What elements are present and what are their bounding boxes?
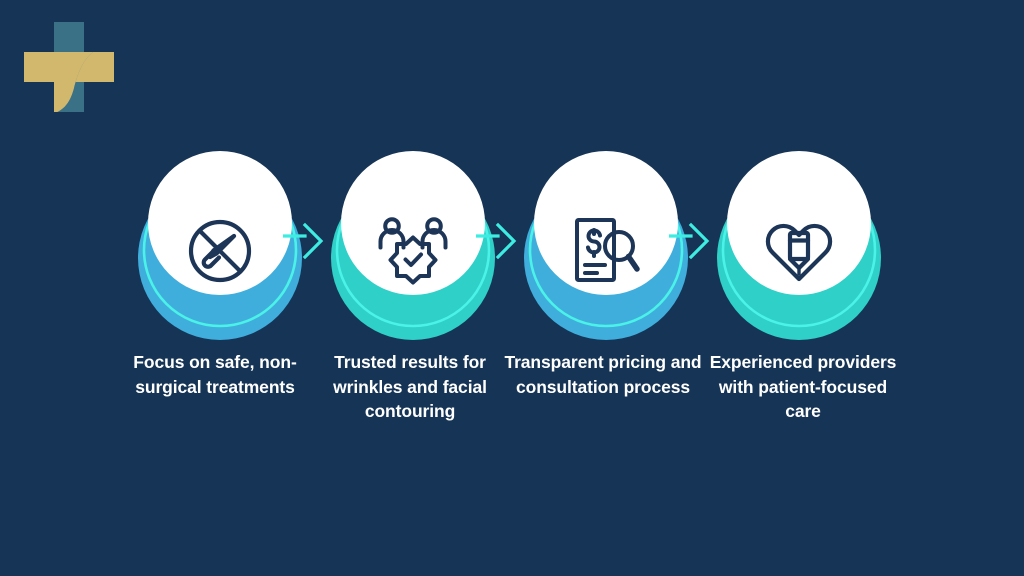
arrow-step1-to-step2: [283, 222, 329, 260]
step-caption-1: Focus on safe, non-surgical treatments: [112, 350, 318, 399]
step-caption-3: Transparent pricing and consultation pro…: [500, 350, 706, 399]
slide-canvas: Focus on safe, non-surgical treatments T…: [0, 0, 1024, 576]
arrow-step2-to-step3: [476, 222, 522, 260]
heart-syringe-icon: [760, 212, 838, 290]
no-scalpel-icon: [181, 212, 259, 290]
arrow-step3-to-step4: [669, 222, 715, 260]
step-caption-2: Trusted results for wrinkles and facial …: [307, 350, 513, 424]
brand-logo: [18, 16, 120, 118]
process-step-4[interactable]: [699, 140, 899, 340]
price-document-magnifier-icon: [567, 212, 645, 290]
step-caption-4: Experienced providers with patient-focus…: [700, 350, 906, 424]
trusted-team-badge-icon: [374, 212, 452, 290]
